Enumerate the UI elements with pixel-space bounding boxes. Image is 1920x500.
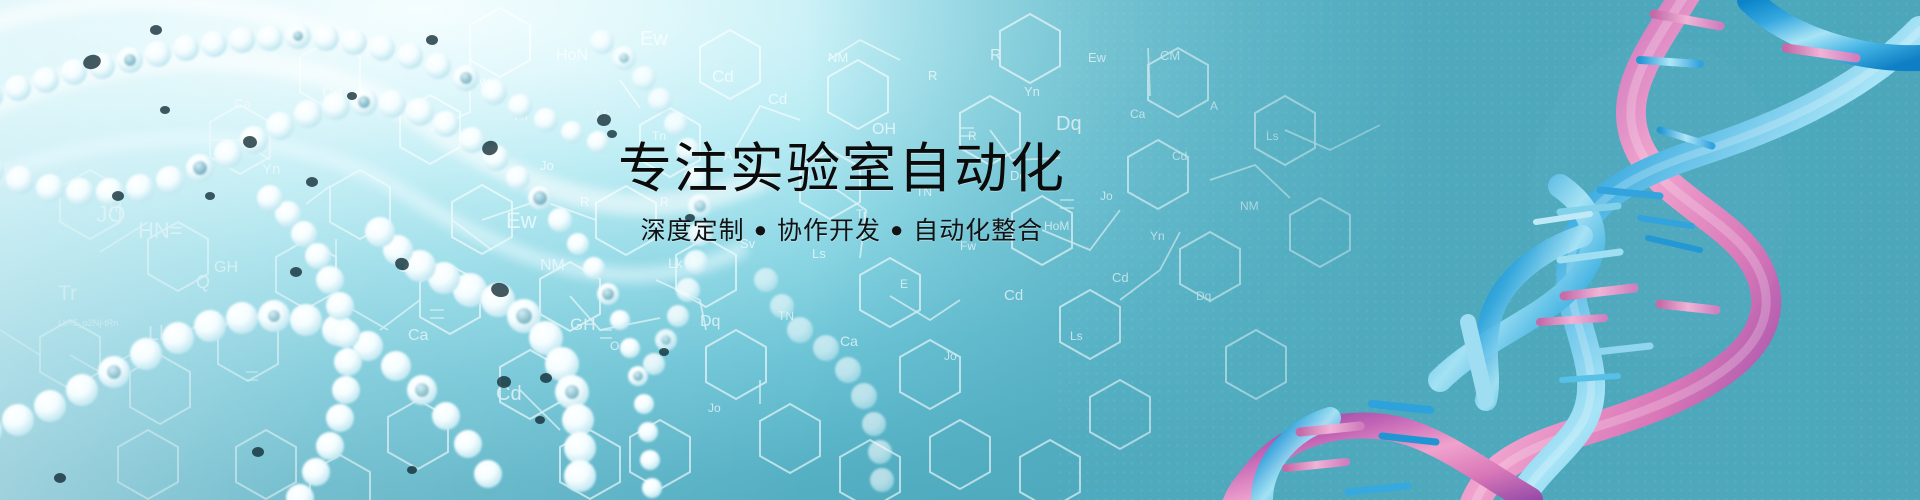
hero-banner: Tr Lk JO Tr HN= Q Ca GH Lk+5_o2Nj-tRn Yn… — [0, 0, 1920, 500]
subtitle-part-2: 协作开发 — [777, 217, 881, 245]
right-dna-helix — [0, 0, 1920, 500]
banner-copy: 专注实验室自动化 深度定制●协作开发●自动化整合 — [612, 140, 1072, 246]
page-subtitle: 深度定制●协作开发●自动化整合 — [612, 216, 1072, 246]
bullet-separator-icon: ● — [890, 217, 904, 243]
page-title: 专注实验室自动化 — [612, 140, 1072, 198]
subtitle-part-3: 自动化整合 — [913, 217, 1043, 245]
subtitle-part-1: 深度定制 — [641, 217, 745, 245]
bullet-separator-icon: ● — [754, 217, 768, 243]
